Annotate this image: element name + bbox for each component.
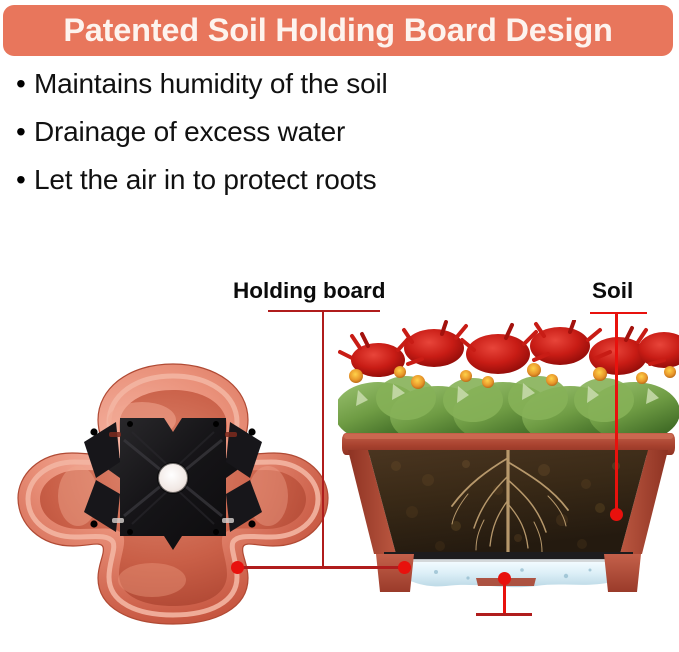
holding-board-strip	[384, 552, 633, 560]
list-item: • Let the air in to protect roots	[16, 166, 636, 214]
product-infographic: Patented Soil Holding Board Design • Mai…	[0, 0, 679, 652]
bullet-dot-icon: •	[16, 118, 34, 146]
chrysanthemum-flowers	[338, 320, 679, 438]
pot-foot-left	[376, 554, 414, 592]
list-item-label: Maintains humidity of the soil	[34, 70, 388, 98]
holding-board-top-view-figure	[12, 358, 334, 628]
planter-rim-highlight	[344, 434, 673, 439]
header-banner: Patented Soil Holding Board Design	[3, 5, 673, 56]
soil-leader-line	[615, 312, 618, 515]
list-item: • Maintains humidity of the soil	[16, 70, 636, 118]
soil-cross-section	[348, 450, 668, 558]
foliage	[338, 376, 679, 438]
holding-board-anchor-dot-left	[231, 561, 244, 574]
holding-board-connector-line	[236, 566, 411, 569]
callout-label-holding-board: Holding board	[233, 278, 385, 304]
holding-board-anchor-dot-right	[398, 561, 411, 574]
holding-board-leader-crossbar	[268, 310, 380, 312]
bullet-dot-icon: •	[16, 70, 34, 98]
page-title: Patented Soil Holding Board Design	[3, 5, 673, 56]
soil-leader-crossbar	[590, 312, 647, 314]
water-leader-crossbar	[476, 613, 532, 616]
callout-label-soil: Soil	[592, 278, 633, 304]
flower-illustration	[338, 320, 679, 438]
lobe-highlight	[118, 563, 186, 597]
water-leader-line	[503, 582, 506, 615]
red-chrysanthemums	[340, 321, 679, 377]
water-anchor-dot	[498, 572, 511, 585]
product-diagram: Holding board Soil Water	[0, 220, 679, 652]
list-item-label: Drainage of excess water	[34, 118, 345, 146]
pot-foot-right	[604, 554, 641, 592]
bullet-dot-icon: •	[16, 166, 34, 194]
planter-cross-section-figure	[338, 320, 679, 608]
planter-body	[348, 450, 668, 558]
holding-board-leader-line	[322, 310, 324, 567]
list-item: • Drainage of excess water	[16, 118, 636, 166]
list-item-label: Let the air in to protect roots	[34, 166, 376, 194]
soil-anchor-dot	[610, 508, 623, 521]
quatrefoil-pot-illustration	[12, 358, 334, 628]
feature-bullet-list: • Maintains humidity of the soil • Drain…	[16, 70, 636, 214]
